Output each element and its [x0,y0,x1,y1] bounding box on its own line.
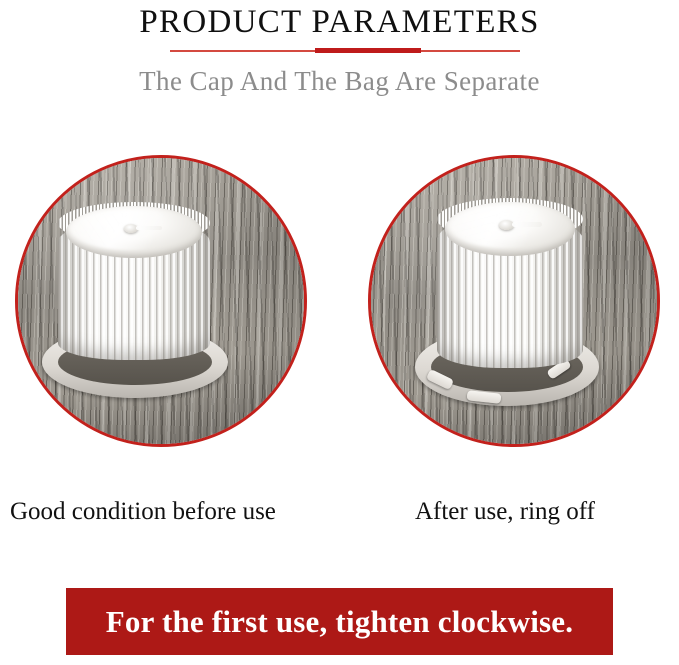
instruction-banner-text: For the first use, tighten clockwise. [106,603,573,641]
product-photo-before-use [15,155,307,447]
instruction-banner: For the first use, tighten clockwise. [66,588,613,655]
cap-nub-tail [136,226,162,230]
cap-nub-tail [512,222,542,227]
header-block: PRODUCT PARAMETERS The Cap And The Bag A… [0,0,679,110]
product-photo-after-use [368,155,660,447]
page-subtitle: The Cap And The Bag Are Separate [0,63,679,99]
title-divider [0,46,679,56]
caption-after-use: After use, ring off [340,495,670,529]
divider-thick-accent [315,48,421,53]
caption-before-use: Good condition before use [10,495,340,529]
page-title: PRODUCT PARAMETERS [0,2,679,42]
